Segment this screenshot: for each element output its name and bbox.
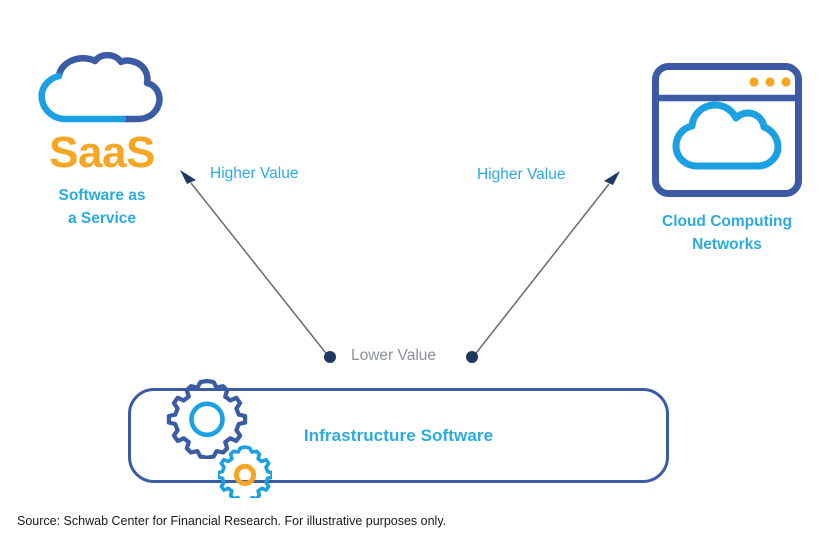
browser-window-cloud-icon xyxy=(651,62,803,198)
window-dot-icon xyxy=(781,77,790,86)
diagram-canvas: SaaS Software as a Service Cloud Computi… xyxy=(0,0,827,543)
arrow-caption-higher-value-right: Higher Value xyxy=(477,166,565,184)
node-ccn-label-line2: Networks xyxy=(692,236,762,253)
gear-inner-ring xyxy=(236,466,253,483)
node-ccn-label: Cloud Computing Networks xyxy=(632,210,822,257)
window-dot-icon xyxy=(749,77,758,86)
node-saas-label-line1: Software as xyxy=(58,187,145,204)
node-ccn-label-line1: Cloud Computing xyxy=(662,213,792,230)
browser-window-frame xyxy=(656,67,799,194)
gear-inner-ring xyxy=(192,404,223,435)
node-saas-label: Software as a Service xyxy=(12,184,192,231)
gear-icon xyxy=(218,444,272,498)
source-note: Source: Schwab Center for Financial Rese… xyxy=(17,514,446,528)
node-cloud-computing-networks: Cloud Computing Networks xyxy=(632,62,822,257)
node-saas-label-line2: a Service xyxy=(68,210,136,227)
window-dot-icon xyxy=(765,77,774,86)
node-saas: SaaS Software as a Service xyxy=(12,52,192,231)
arrow-caption-higher-value-left: Higher Value xyxy=(210,165,298,183)
arrow-origin-dot xyxy=(324,351,336,363)
arrow-head xyxy=(604,171,620,195)
arrow-caption-lower-value: Lower Value xyxy=(351,347,436,365)
arrow-origin-dot xyxy=(466,351,478,363)
arrow-infrastructure-to-cloud-computing-networks xyxy=(466,171,620,363)
saas-wordmark: SaaS xyxy=(12,131,192,175)
arrow-line xyxy=(473,184,609,357)
arrow-line xyxy=(191,183,329,357)
cloud-icon xyxy=(37,52,167,137)
arrow-infrastructure-to-saas xyxy=(180,170,336,363)
